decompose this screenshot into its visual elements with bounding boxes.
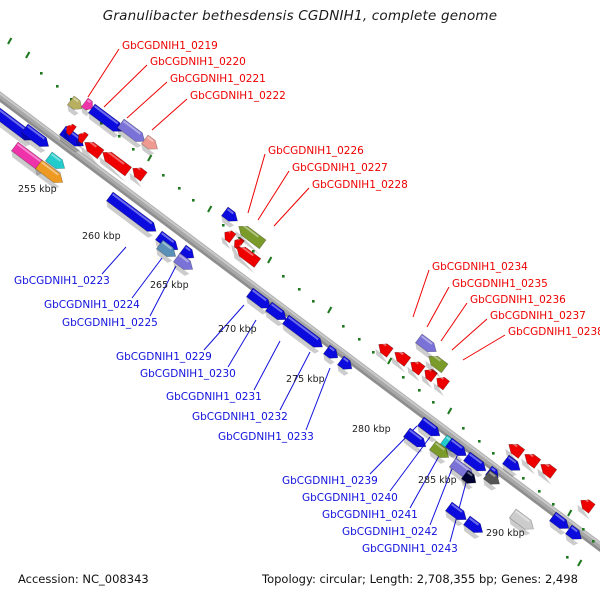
- gene-label[interactable]: GbCGDNIH1_0227: [292, 163, 388, 174]
- scale-tick-dash: [568, 510, 571, 516]
- scale-tick-dot: [372, 351, 375, 354]
- label-leader-line: [254, 341, 280, 390]
- gene-label[interactable]: GbCGDNIH1_0231: [166, 392, 262, 403]
- scale-tick-dash: [578, 560, 581, 566]
- label-leader-line: [150, 266, 176, 316]
- label-leader-line: [88, 49, 119, 97]
- label-leader-line: [248, 154, 265, 213]
- scale-tick-dot: [282, 275, 285, 278]
- axis-tick-label: 290 kbp: [486, 529, 525, 539]
- label-leader-line: [104, 65, 147, 107]
- gene-label[interactable]: GbCGDNIH1_0221: [170, 74, 266, 85]
- scale-tick-dash: [148, 155, 151, 161]
- label-leader-line: [102, 247, 126, 274]
- scale-tick-dot: [402, 376, 405, 379]
- scale-tick-dot: [592, 540, 595, 543]
- gene-label[interactable]: GbCGDNIH1_0241: [322, 510, 418, 521]
- axis-tick-label: 275 kbp: [286, 375, 325, 385]
- gene-label[interactable]: GbCGDNIH1_0229: [116, 352, 212, 363]
- axis-tick-label: 285 kbp: [418, 476, 457, 486]
- gene-label[interactable]: GbCGDNIH1_0240: [302, 493, 398, 504]
- gene-label[interactable]: GbCGDNIH1_0237: [490, 311, 586, 322]
- scale-tick-dot: [582, 528, 585, 531]
- scale-tick-dot: [192, 199, 195, 202]
- scale-tick-dash: [388, 358, 391, 364]
- gene-label[interactable]: GbCGDNIH1_0243: [362, 544, 458, 555]
- scale-tick-dot: [178, 187, 181, 190]
- scale-tick-dot: [566, 556, 569, 559]
- gene-label[interactable]: GbCGDNIH1_0235: [452, 279, 548, 290]
- leader-line-layer: [88, 49, 505, 542]
- label-leader-line: [463, 335, 505, 360]
- label-leader-line: [274, 188, 309, 226]
- label-leader-line: [427, 287, 449, 327]
- gene-label[interactable]: GbCGDNIH1_0230: [140, 369, 236, 380]
- gene-label[interactable]: GbCGDNIH1_0234: [432, 262, 528, 273]
- gene-label[interactable]: GbCGDNIH1_0219: [122, 41, 218, 52]
- scale-tick-dot: [342, 325, 345, 328]
- scale-tick-dot: [162, 174, 165, 177]
- scale-tick-dot: [538, 490, 541, 493]
- gene-label[interactable]: GbCGDNIH1_0239: [282, 476, 378, 487]
- genome-map-viewer: Granulibacter bethesdensis CGDNIH1, comp…: [0, 0, 600, 600]
- axis-tick-label: 260 kbp: [82, 232, 121, 242]
- gene-label[interactable]: GbCGDNIH1_0238: [508, 327, 600, 338]
- scale-tick-dash: [448, 408, 451, 414]
- scale-tick-dash: [8, 38, 11, 44]
- scale-tick-dot: [358, 338, 361, 341]
- gene-label[interactable]: GbCGDNIH1_0242: [342, 527, 438, 538]
- label-leader-line: [127, 82, 167, 118]
- scale-tick-dot: [462, 427, 465, 430]
- axis-tick-label: 280 kbp: [352, 425, 391, 435]
- gene-label[interactable]: GbCGDNIH1_0224: [44, 300, 140, 311]
- scale-tick-dot: [132, 148, 135, 151]
- scale-tick-dot: [298, 288, 301, 291]
- gene-label[interactable]: GbCGDNIH1_0233: [218, 432, 314, 443]
- scale-tick-dash: [26, 52, 29, 58]
- gene-arrow[interactable]: [535, 460, 561, 485]
- scale-tick-dash: [328, 307, 331, 313]
- scale-tick-dot: [312, 300, 315, 303]
- gene-label[interactable]: GbCGDNIH1_0223: [14, 276, 110, 287]
- axis-tick-label: 265 kbp: [150, 281, 189, 291]
- scale-tick-dot: [492, 452, 495, 455]
- label-leader-line: [258, 171, 289, 220]
- accession-text: Accession: NC_008343: [18, 572, 149, 586]
- axis-tick-label: 270 kbp: [218, 325, 257, 335]
- gene-label[interactable]: GbCGDNIH1_0226: [268, 146, 364, 157]
- gene-arrow[interactable]: [413, 334, 440, 360]
- scale-tick-dash: [208, 206, 211, 212]
- label-leader-line: [132, 258, 162, 298]
- scale-tick-dot: [222, 224, 225, 227]
- label-leader-line: [441, 303, 467, 341]
- scale-tick-dot: [522, 477, 525, 480]
- scale-tick-dot: [56, 85, 59, 88]
- label-leader-line: [152, 99, 187, 130]
- label-leader-line: [452, 319, 487, 350]
- label-leader-line: [413, 270, 429, 317]
- gene-label[interactable]: GbCGDNIH1_0220: [150, 57, 246, 68]
- scale-tick-dot: [552, 503, 555, 506]
- gene-label[interactable]: GbCGDNIH1_0222: [190, 91, 286, 102]
- genome-info-text: Topology: circular; Length: 2,708,355 bp…: [262, 572, 578, 586]
- gene-label[interactable]: GbCGDNIH1_0225: [62, 318, 158, 329]
- gene-arrow[interactable]: [389, 348, 415, 373]
- scale-tick-dot: [432, 401, 435, 404]
- gene-label[interactable]: GbCGDNIH1_0228: [312, 180, 408, 191]
- scale-tick-dash: [268, 257, 271, 263]
- gene-label[interactable]: GbCGDNIH1_0236: [470, 295, 566, 306]
- gene-arrow[interactable]: [519, 450, 545, 475]
- gene-label[interactable]: GbCGDNIH1_0232: [192, 412, 288, 423]
- gene-arrow[interactable]: [575, 496, 599, 520]
- scale-tick-dot: [478, 440, 481, 443]
- scale-tick-dot: [40, 72, 43, 75]
- scale-tick-dot: [418, 389, 421, 392]
- axis-tick-label: 255 kbp: [18, 185, 57, 195]
